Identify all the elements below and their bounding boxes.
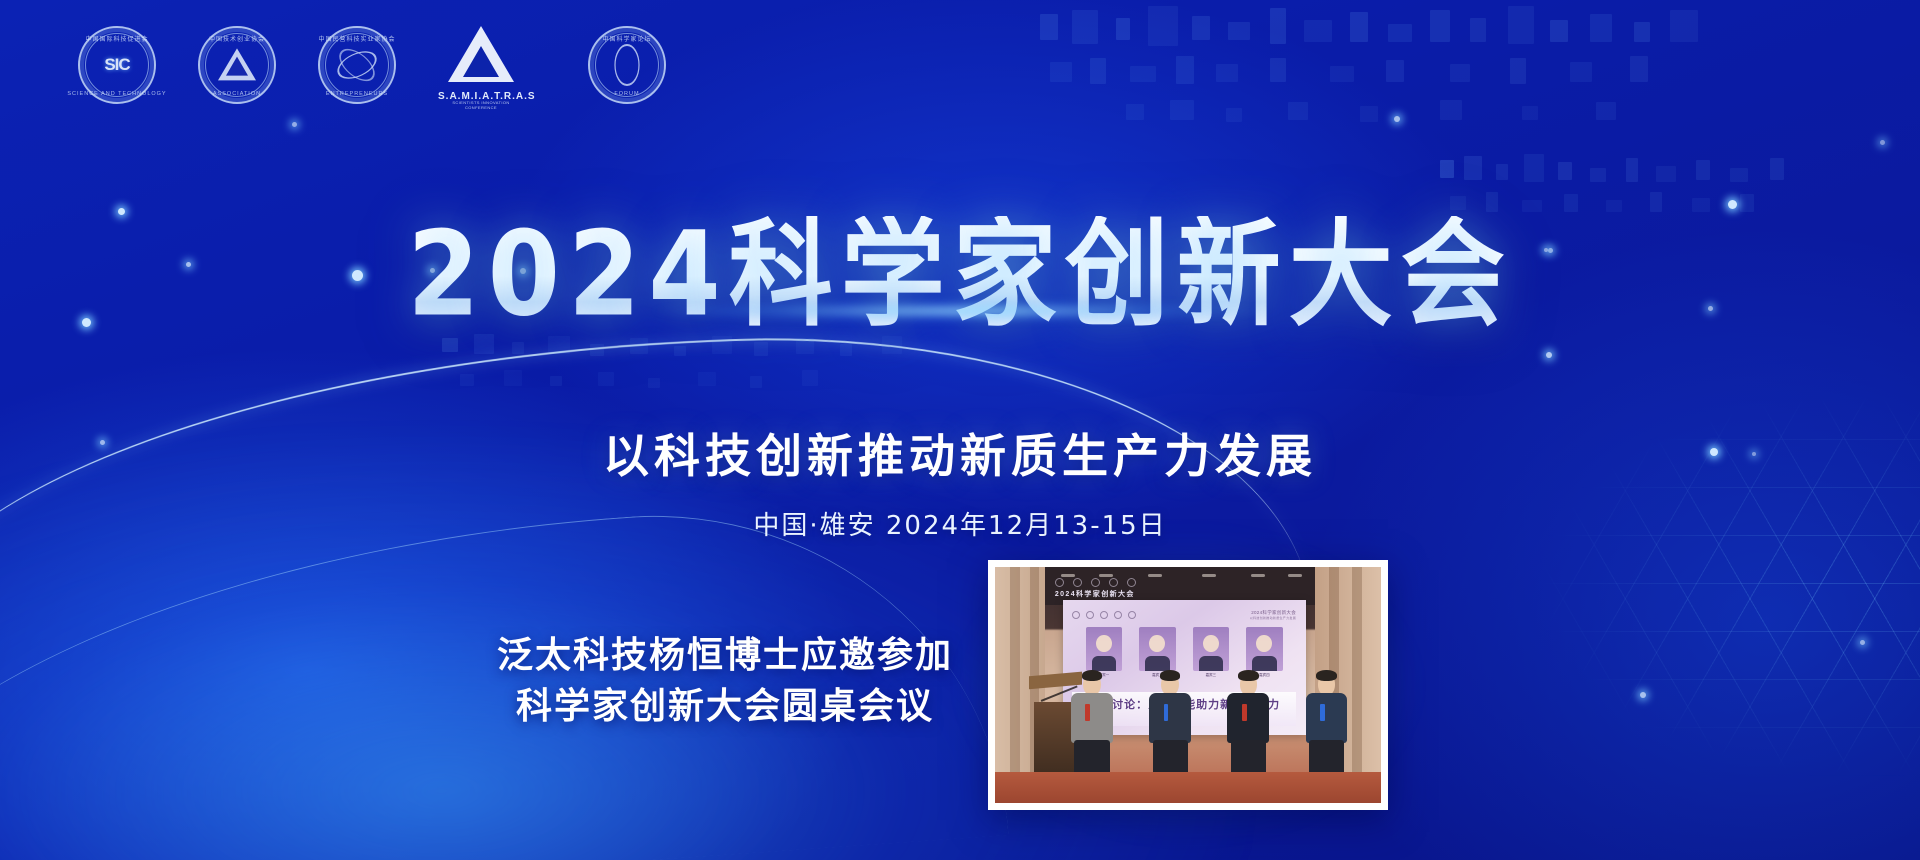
event-photo: 2024科学家创新大会 2024科学家创新大会 以科技创新推动新质生产力发展 [995, 567, 1381, 803]
logo-sic-emblem: 中国国际科技促进会 SIC SCIENCE AND TECHNOLOGY [78, 26, 156, 104]
poster-sub-title: 以科技创新推动新质生产力发展 [0, 420, 1920, 486]
logo-samiatras-mark: S.A.M.I.A.T.R.A.S SCIENTISTS INNOVATION … [438, 24, 524, 106]
particle-dot [1394, 116, 1400, 122]
target-icon [1128, 611, 1136, 619]
portrait-photo [1246, 627, 1282, 671]
photo-panelists [1064, 673, 1354, 777]
photo-stage-banner-title: 2024科学家创新大会 [1055, 589, 1135, 599]
screen-header: 2024科学家创新大会 以科技创新推动新质生产力发展 [1072, 607, 1296, 623]
logo-shield-seal-emblem: 中国科学家论坛 FORUM [588, 26, 666, 104]
organizer-logo-row: 中国国际科技促进会 SIC SCIENCE AND TECHNOLOGY 中国技… [78, 24, 666, 106]
circle-icon [1072, 611, 1080, 619]
conference-poster: 中国国际科技促进会 SIC SCIENCE AND TECHNOLOGY 中国技… [0, 0, 1920, 860]
particle-dot [1860, 640, 1865, 645]
panelist [1143, 673, 1198, 777]
event-photo-frame: 2024科学家创新大会 2024科学家创新大会 以科技创新推动新质生产力发展 [988, 560, 1388, 810]
poster-date-location: 中国·雄安 2024年12月13-15日 [0, 505, 1920, 542]
background-digital-blocks [1030, 0, 1730, 210]
panelist-badge [1164, 704, 1169, 721]
panelist-body [1306, 693, 1348, 743]
portrait-photo [1193, 627, 1229, 671]
clock-icon [1100, 611, 1108, 619]
logo-bottom-text: SCIENTISTS INNOVATION CONFERENCE [438, 100, 524, 110]
panelist-badge [1242, 704, 1247, 721]
particle-dot [1640, 692, 1646, 698]
logo-bottom-text: SCIENCE AND TECHNOLOGY [67, 91, 166, 97]
particle-dot [1728, 200, 1737, 209]
screen-portrait: 嘉宾三 [1193, 627, 1229, 678]
portrait-photo [1139, 627, 1175, 671]
poster-caption: 泛太科技杨恒博士应邀参加 科学家创新大会圆桌会议 [470, 630, 980, 732]
logo-top-text: 中国民营科技实业家协会 [318, 34, 395, 43]
logo-bottom-text: ASSOCIATION [213, 91, 261, 97]
triangle-icon [1114, 611, 1122, 619]
screen-header-subtitle: 以科技创新推动新质生产力发展 [1250, 616, 1296, 620]
caption-line-2: 科学家创新大会圆桌会议 [470, 681, 980, 732]
photo-wall-column [1010, 567, 1019, 775]
photo-stage-floor [995, 772, 1381, 803]
clock-icon [1091, 578, 1100, 587]
panelist-body [1149, 693, 1191, 743]
panelist [1064, 673, 1119, 777]
photo-ceiling-lights [1045, 574, 1315, 576]
logo-atom-seal-emblem: 中国民营科技实业家协会 ENTREPRENEURS [318, 26, 396, 104]
particle-dot [118, 208, 125, 215]
logo-top-text: 中国国际科技促进会 [85, 34, 148, 43]
panelist-badge [1085, 704, 1090, 721]
particle-dot [1546, 352, 1552, 358]
target-icon [1127, 578, 1136, 587]
logo-bottom-text: ENTREPRENEURS [326, 91, 388, 97]
home-icon [1086, 611, 1094, 619]
globe-orbit-icon [614, 44, 639, 86]
poster-main-title: 2024科学家创新大会 [0, 216, 1920, 332]
particle-dot [292, 122, 297, 127]
panelist [1221, 673, 1276, 777]
particle-dot [1880, 140, 1885, 145]
caption-line-1: 泛太科技杨恒博士应邀参加 [470, 630, 980, 681]
logo-top-text: 中国技术创业协会 [209, 34, 265, 43]
logo-triangle-seal-emblem: 中国技术创业协会 ASSOCIATION [198, 26, 276, 104]
photo-stage-banner-icons [1055, 578, 1136, 587]
panelist-body [1071, 693, 1113, 743]
circle-icon [1055, 578, 1064, 587]
logo-bottom-text: FORUM [614, 91, 639, 97]
home-icon [1073, 578, 1082, 587]
triangle-inner-icon [463, 46, 499, 77]
portrait-photo [1086, 627, 1122, 671]
triangle-inner-icon [226, 57, 248, 76]
logo-top-text: 中国科学家论坛 [602, 34, 651, 43]
panelist-badge [1320, 704, 1325, 721]
triangle-icon [1109, 578, 1118, 587]
logo-core-text: SIC [98, 46, 136, 84]
panelist [1299, 673, 1354, 777]
panelist-body [1227, 693, 1269, 743]
